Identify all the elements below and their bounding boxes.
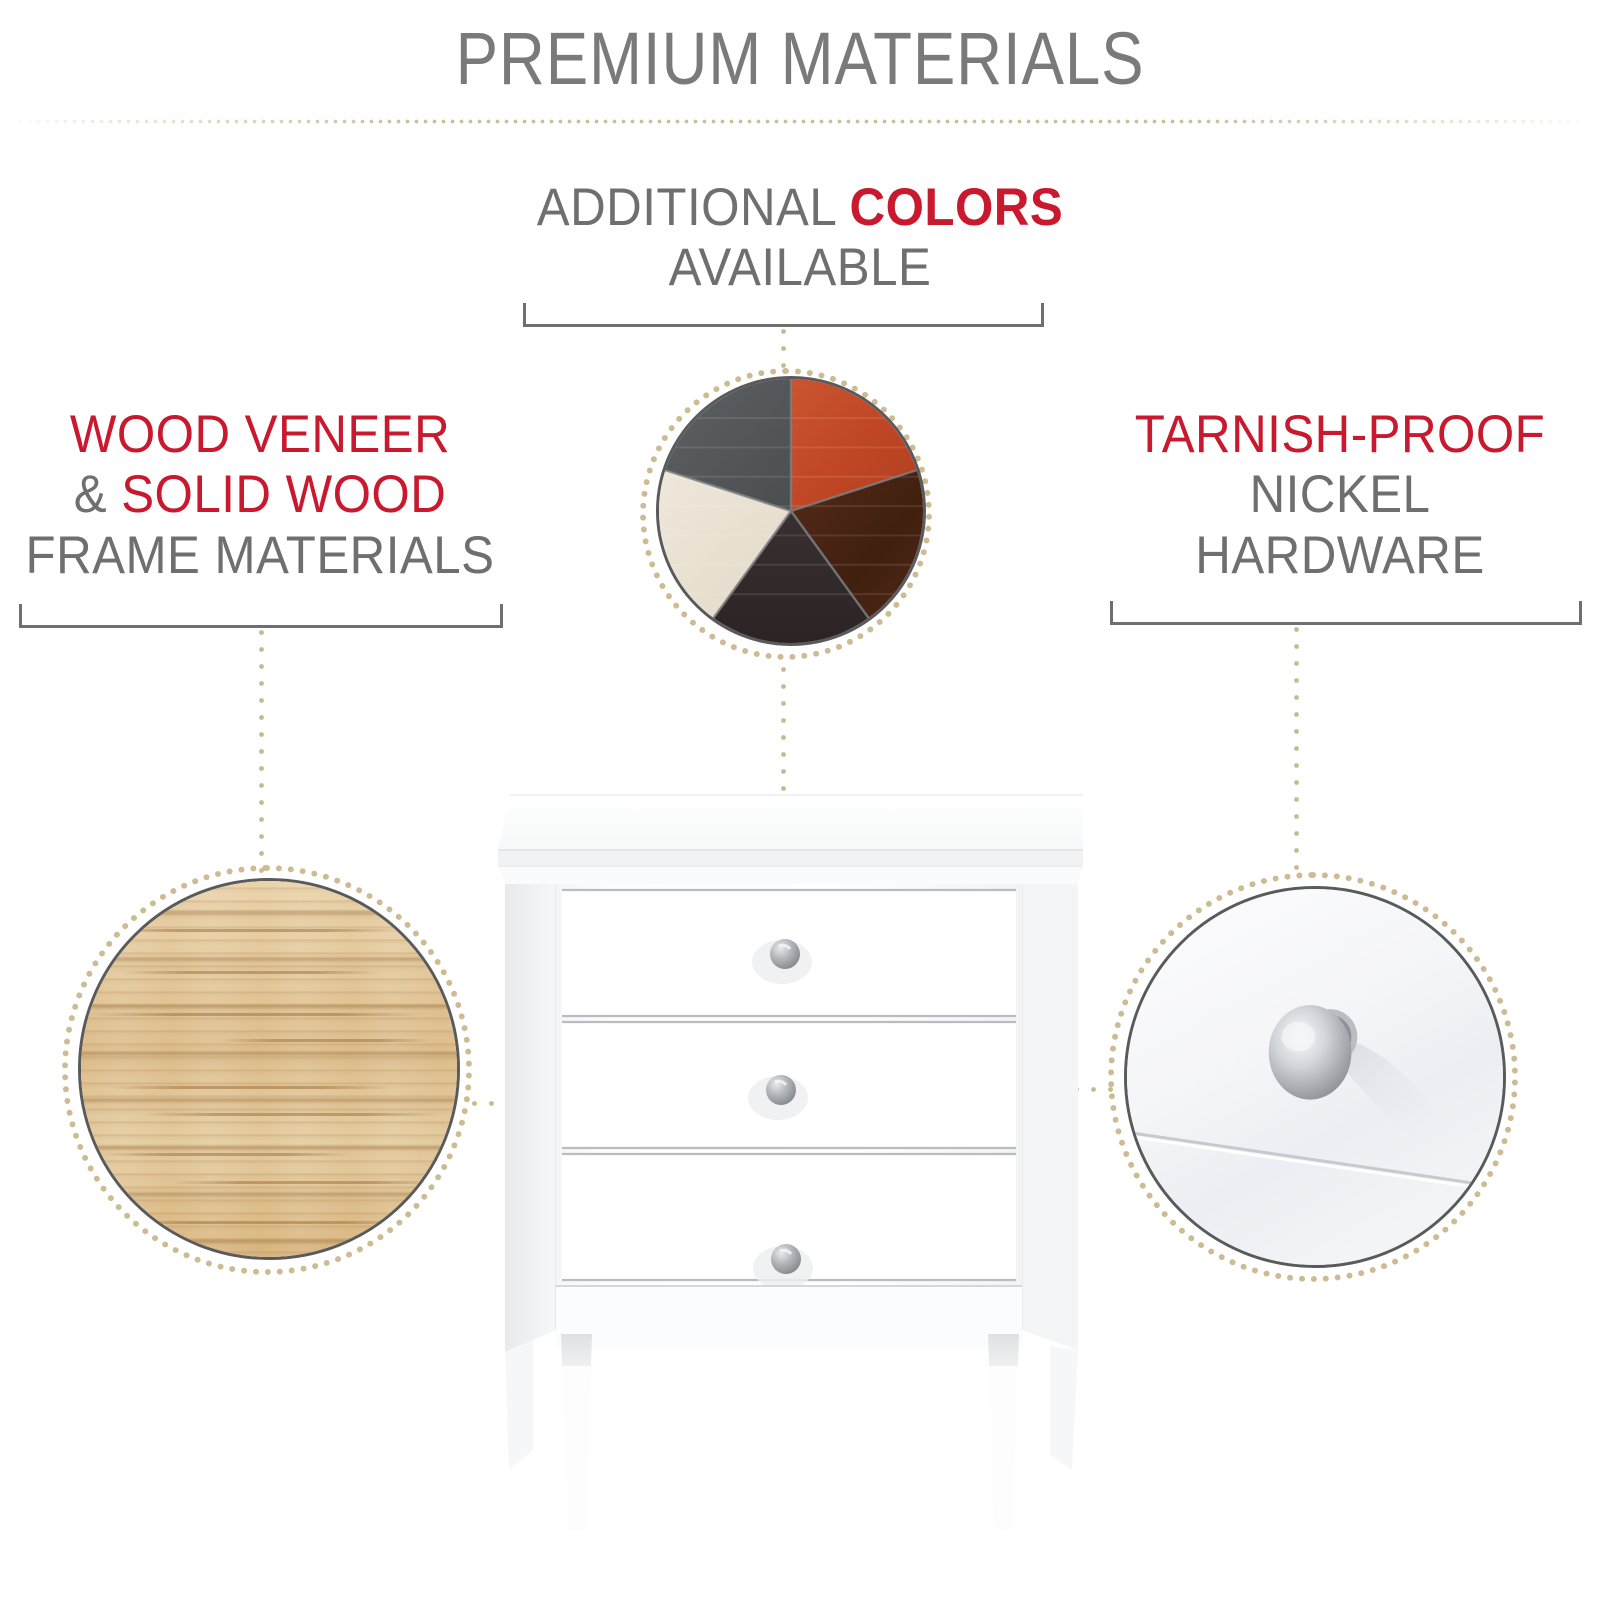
callout-text-ampersand: &: [74, 465, 122, 524]
wood-streak: [111, 1221, 421, 1224]
wood-streak: [121, 971, 381, 974]
callout-line-1: ADDITIONAL COLORS: [456, 178, 1144, 238]
leg-front-right: [988, 1334, 1019, 1530]
wood-streak: [111, 1086, 391, 1089]
callout-line-1: WOOD VENEER: [18, 405, 502, 465]
callout-text-frame-materials: FRAME MATERIALS: [26, 526, 495, 585]
callout-wood-veneer: WOOD VENEER & SOLID WOOD FRAME MATERIALS: [0, 405, 520, 586]
knob-top-shadow: [752, 940, 812, 984]
callout-text-nickel: NICKEL: [1250, 465, 1431, 524]
knob-middle-shadow: [748, 1076, 808, 1120]
callout-line-3: FRAME MATERIALS: [18, 526, 502, 586]
nickel-knob-swatch: [1124, 886, 1506, 1268]
drawer-front-bottom: [562, 1154, 1016, 1280]
callout-text-available: AVAILABLE: [669, 238, 932, 297]
callout-text-solid-wood: SOLID WOOD: [121, 465, 446, 524]
leg-back-left: [505, 1340, 533, 1470]
callout-text-additional: ADDITIONAL: [537, 178, 850, 237]
connector-tarnish-to-swatch: [1293, 625, 1300, 880]
callout-tarnish-proof: TARNISH-PROOF NICKEL HARDWARE: [1080, 405, 1600, 586]
color-wheel-wedges: [659, 379, 923, 643]
drawer-knob-bottom: [771, 1244, 801, 1274]
bracket-additional-colors: [523, 303, 1044, 327]
bracket-tarnish-proof: [1110, 601, 1582, 625]
callout-line-2: NICKEL: [1098, 465, 1582, 525]
leg-front-left: [561, 1334, 592, 1530]
wood-streak: [91, 1013, 421, 1016]
leg-back-right: [1050, 1346, 1078, 1470]
marker-left-side: [519, 1096, 536, 1113]
callout-text-tarnish-proof: TARNISH-PROOF: [1135, 405, 1545, 464]
base-apron: [556, 1286, 1022, 1348]
connector-colors-to-wheel: [780, 327, 787, 369]
wood-streak: [221, 1039, 431, 1042]
drawer-front-top: [562, 890, 1016, 1016]
page-title: PREMIUM MATERIALS: [112, 16, 1488, 101]
wood-streak: [171, 1181, 441, 1184]
connector-product-to-knob: [800, 1086, 1116, 1093]
wood-streak: [141, 1113, 441, 1116]
color-wheel-swatch: [656, 376, 926, 646]
marker-top-surface: [775, 815, 792, 832]
callout-additional-colors: ADDITIONAL COLORS AVAILABLE: [430, 178, 1170, 299]
callout-line-2: AVAILABLE: [456, 238, 1144, 298]
wood-grain-texture: [81, 881, 457, 1257]
dotted-divider: [0, 118, 1600, 125]
wood-grain-swatch: [78, 878, 460, 1260]
wood-streak: [101, 929, 401, 932]
callout-line-1: TARNISH-PROOF: [1098, 405, 1582, 465]
drawer-knob-top: [770, 939, 800, 969]
marker-middle-knob: [785, 1082, 802, 1099]
callout-line-3: HARDWARE: [1098, 526, 1582, 586]
wood-streak: [101, 1153, 351, 1156]
callout-text-wood-veneer: WOOD VENEER: [70, 405, 450, 464]
nightstand-left-panel: [505, 884, 556, 1352]
connector-wood-to-swatch: [258, 628, 265, 876]
callout-line-2: & SOLID WOOD: [18, 465, 502, 525]
knob-bottom-shadow: [753, 1246, 813, 1290]
bracket-wood-veneer: [19, 604, 503, 628]
callout-text-colors: COLORS: [850, 178, 1064, 237]
callout-text-hardware: HARDWARE: [1195, 526, 1484, 585]
connector-wheel-to-product: [780, 665, 787, 823]
